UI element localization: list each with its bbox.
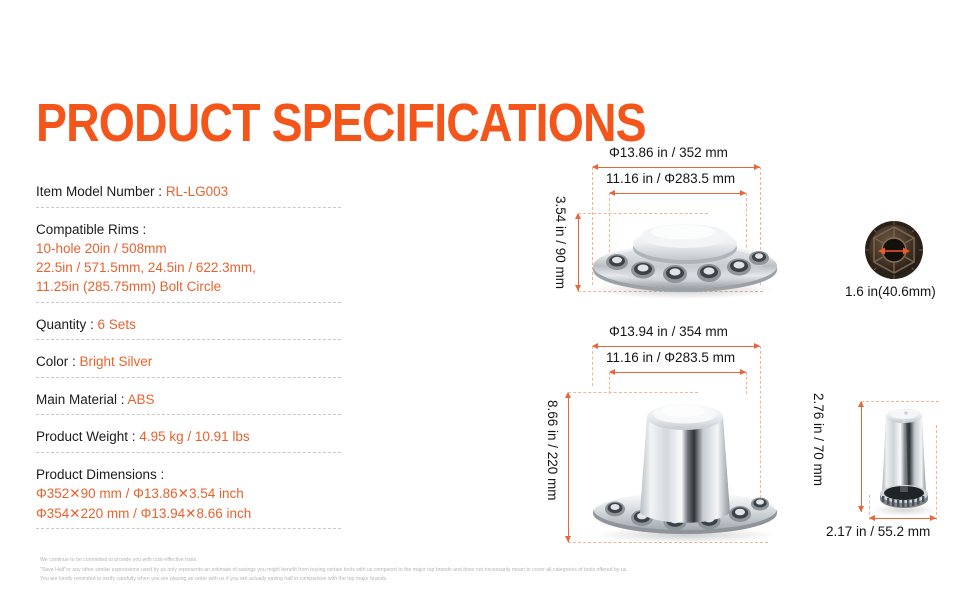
lug-nut-cover-ext-line-left: [869, 495, 870, 520]
spec-extra-line: Φ354✕220 mm / Φ13.94✕8.66 inch: [36, 504, 341, 523]
front-cap-ext-line-bottom: [578, 291, 763, 292]
spec-extra-line: Φ352✕90 mm / Φ13.86✕3.54 inch: [36, 484, 341, 503]
spec-label: Compatible Rims :: [36, 222, 146, 237]
spec-divider: [36, 452, 341, 453]
spec-row-main-material: Main Material : ABS: [36, 383, 341, 421]
rear-cap-ext-line-right: [760, 346, 761, 518]
front-cap-height-line: [578, 213, 579, 291]
front-cap-outer-diameter-line: [592, 167, 760, 168]
spec-label: Item Model Number :: [36, 184, 162, 199]
lug-nut-top-diameter-label: 1.6 in(40.6mm): [845, 284, 936, 299]
spec-extra-line: 22.5in / 571.5mm, 24.5in / 622.3mm,: [36, 258, 341, 277]
front-cap-ext-line-left: [592, 167, 593, 285]
specification-list: Item Model Number : RL-LG003 Compatible …: [36, 182, 341, 534]
front-cap-bolt-circle-line: [609, 193, 746, 194]
rear-cap-height-label: 8.66 in / 220 mm: [545, 400, 560, 501]
spec-divider: [36, 339, 341, 340]
rear-cap-ext-line-bottom: [568, 542, 768, 543]
spec-row-compatible-rims: Compatible Rims : 10-hole 20in / 508mm 2…: [36, 213, 341, 308]
spec-label: Main Material :: [36, 392, 125, 407]
spec-divider: [36, 414, 341, 415]
spec-row-product-weight: Product Weight : 4.95 kg / 10.91 lbs: [36, 420, 341, 458]
spec-label: Quantity :: [36, 317, 94, 332]
spec-value: Bright Silver: [80, 354, 153, 369]
rear-cap-bolt-circle-line: [609, 372, 746, 373]
disclaimer-line-2: "Save Half"or any other similar expressi…: [40, 566, 860, 576]
lug-nut-cover-width-line: [869, 518, 936, 519]
front-cap-height-label: 3.54 in / 90 mm: [553, 196, 568, 289]
spec-divider: [36, 207, 341, 208]
spec-value: 6 Sets: [98, 317, 136, 332]
lug-nut-cover-width-label: 2.17 in / 55.2 mm: [826, 524, 930, 539]
front-cap-ext-line-right: [760, 167, 761, 285]
disclaimer-line-3: You are kindly reminded to verify carefu…: [40, 575, 860, 585]
spec-extra-line: 10-hole 20in / 508mm: [36, 239, 341, 258]
front-cap-bolt-circle-label: 11.16 in / Φ283.5 mm: [606, 171, 735, 186]
spec-divider: [36, 377, 341, 378]
rear-cap-bolt-circle-label: 11.16 in / Φ283.5 mm: [606, 350, 735, 365]
front-hub-cap-illustration: [585, 210, 785, 300]
front-cap-ext-line-bolt-left: [609, 193, 610, 273]
spec-row-product-dimensions: Product Dimensions : Φ352✕90 mm / Φ13.86…: [36, 458, 341, 534]
spec-value: 4.95 kg / 10.91 lbs: [139, 429, 249, 444]
lug-nut-cover-height-label: 2.76 in / 70 mm: [811, 393, 826, 486]
lug-nut-cover-ext-line-right: [936, 425, 937, 520]
rear-cap-ext-line-bolt-right: [746, 372, 747, 394]
front-cap-ext-line-bolt-right: [746, 193, 747, 273]
spec-divider: [36, 302, 341, 303]
spec-row-color: Color : Bright Silver: [36, 345, 341, 383]
product-specifications-page: PRODUCT SPECIFICATIONS Item Model Number…: [0, 0, 970, 600]
rear-cap-ext-line-top: [568, 392, 698, 393]
spec-label: Color :: [36, 354, 76, 369]
spec-value: RL-LG003: [166, 184, 228, 199]
spec-value: ABS: [128, 392, 155, 407]
spec-divider: [36, 528, 341, 529]
rear-cap-outer-diameter-line: [592, 346, 760, 347]
front-cap-ext-line-top: [578, 213, 708, 214]
rear-hub-cap-illustration: [585, 385, 785, 545]
spec-label: Product Weight :: [36, 429, 136, 444]
spec-row-model-number: Item Model Number : RL-LG003: [36, 182, 341, 213]
spec-label: Product Dimensions :: [36, 467, 164, 482]
page-title: PRODUCT SPECIFICATIONS: [36, 96, 646, 150]
footer-disclaimer: We continue to be committed to provide y…: [40, 556, 860, 585]
disclaimer-line-1: We continue to be committed to provide y…: [40, 556, 860, 566]
lug-nut-top-view-illustration: [858, 214, 930, 286]
lug-nut-cover-illustration: [864, 398, 944, 518]
spec-extra-line: 11.25in (285.75mm) Bolt Circle: [36, 277, 341, 296]
rear-cap-height-line: [568, 392, 569, 542]
lug-nut-cover-height-line: [861, 401, 862, 512]
spec-row-quantity: Quantity : 6 Sets: [36, 308, 341, 346]
rear-cap-ext-line-left: [592, 346, 593, 386]
rear-cap-ext-line-bolt-left: [609, 372, 610, 394]
rear-cap-outer-diameter-label: Φ13.94 in / 354 mm: [609, 324, 728, 339]
lug-nut-cover-ext-line-top: [861, 401, 939, 402]
